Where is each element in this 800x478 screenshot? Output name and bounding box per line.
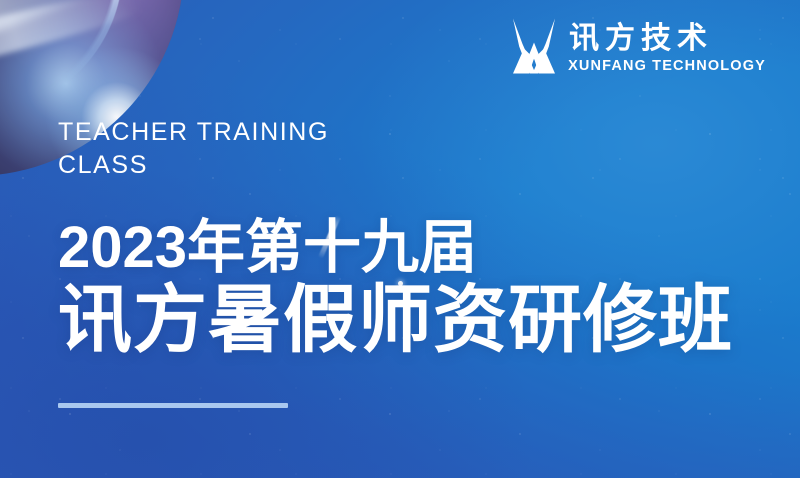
headline-line-2: 讯方暑假师资研修班 bbox=[58, 279, 733, 362]
headline-line-1: 2023年第十九届 bbox=[58, 216, 733, 281]
brand-logo: 讯方技术 XUNFANG TECHNOLOGY bbox=[511, 18, 766, 80]
brand-logo-text: 讯方技术 XUNFANG TECHNOLOGY bbox=[568, 23, 766, 74]
xunfang-x-mark-icon bbox=[511, 18, 557, 80]
eyebrow-line-1: TEACHER TRAINING bbox=[58, 116, 388, 149]
promo-banner: 讯方技术 XUNFANG TECHNOLOGY TEACHER TRAINING… bbox=[0, 0, 800, 478]
horizontal-rule-icon bbox=[58, 403, 288, 408]
page-title: 2023年第十九届 讯方暑假师资研修班 bbox=[58, 216, 733, 362]
brand-name-cn: 讯方技术 bbox=[568, 23, 713, 55]
eyebrow-text: TEACHER TRAINING CLASS bbox=[58, 116, 388, 183]
eyebrow-line-2: CLASS bbox=[58, 149, 388, 182]
brand-name-en: XUNFANG TECHNOLOGY bbox=[568, 59, 766, 75]
